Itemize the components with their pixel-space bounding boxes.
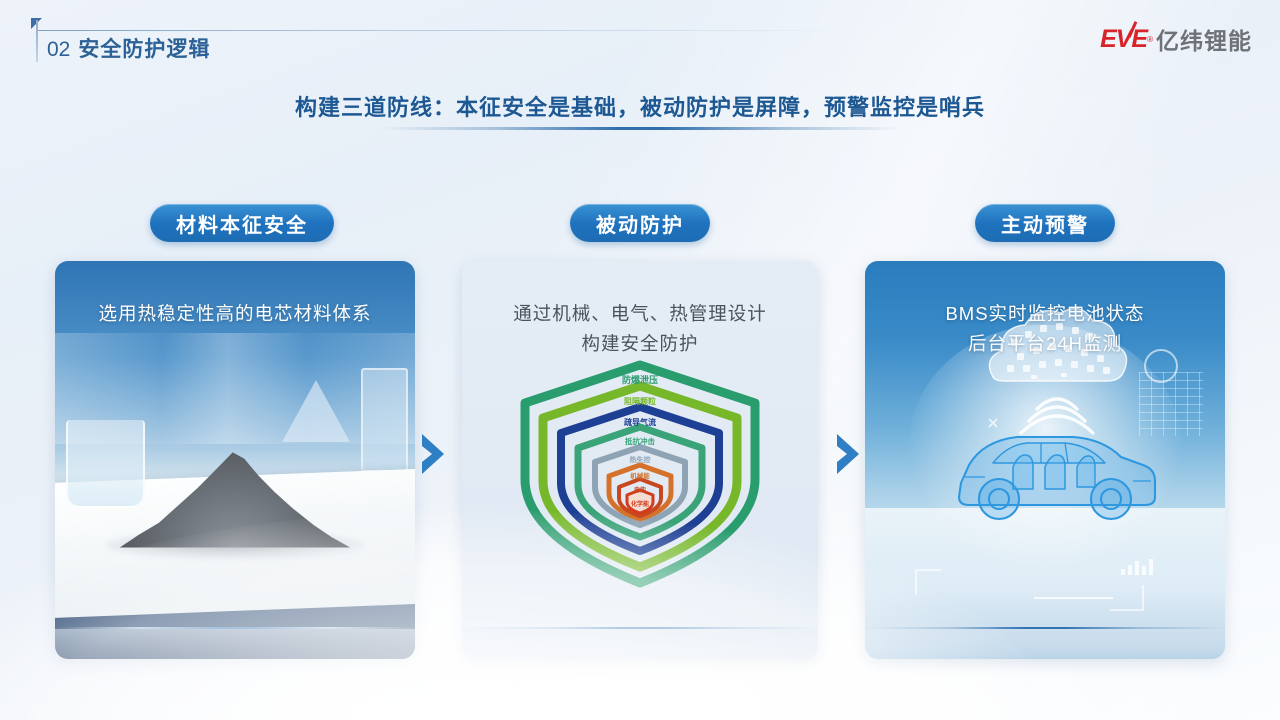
- flow-arrow-2: [833, 432, 863, 476]
- section-title: 安全防护逻辑: [78, 38, 210, 61]
- section-number: 02: [47, 38, 70, 61]
- slide-subtitle: 构建三道防线：本征安全是基础，被动防护是屏障，预警监控是哨兵: [0, 90, 1280, 122]
- shield-label-0: 防爆泄压: [622, 374, 658, 385]
- caption-line: 选用热稳定性高的电芯材料体系: [55, 299, 415, 329]
- column-passive-protection: 被动防护 通过机械、电气、热管理设计 构建安全防护: [462, 204, 818, 659]
- shield-label-1: 阻隔颗粒: [624, 396, 656, 406]
- badge-passive-protection[interactable]: 被动防护: [570, 204, 710, 242]
- card-material-intrinsic-safety[interactable]: 选用热稳定性高的电芯材料体系: [55, 261, 415, 659]
- nested-shield-diagram: 防爆泄压 阻隔颗粒 疏导气流 抵抗冲击 热失控 机械能 电能 化学能: [462, 359, 818, 589]
- shield-label-5: 机械能: [630, 471, 650, 480]
- chevron-right-icon: [418, 432, 448, 476]
- subtitle-underline: [380, 127, 900, 130]
- logo-wordmark: EVE: [1100, 25, 1147, 54]
- eve-logo: EVE ® 亿纬锂能: [1100, 22, 1252, 56]
- shield-label-2: 疏导气流: [624, 417, 656, 427]
- header-vertical-rule: [36, 20, 38, 62]
- wifi-signal-icon: [1021, 399, 1093, 433]
- shield-label-6: 电能: [634, 486, 646, 494]
- card-caption-3: BMS实时监控电池状态 后台平台24H监测: [865, 299, 1225, 359]
- caption-line: 通过机械、电气、热管理设计: [462, 299, 818, 329]
- logo-registered-icon: ®: [1147, 35, 1153, 44]
- header-horizontal-rule: [38, 30, 858, 31]
- shield-label-3: 抵抗冲击: [625, 436, 655, 446]
- shield-svg: 防爆泄压 阻隔颗粒 疏导气流 抵抗冲击 热失控 机械能 电能 化学能: [515, 359, 765, 589]
- card-caption-2: 通过机械、电气、热管理设计 构建安全防护: [462, 299, 818, 359]
- slide-header: 02安全防护逻辑 EVE ® 亿纬锂能: [0, 0, 1280, 72]
- flow-arrow-1: [418, 432, 448, 476]
- card-caption-1: 选用热稳定性高的电芯材料体系: [55, 299, 415, 329]
- logo-chinese-name: 亿纬锂能: [1156, 22, 1252, 56]
- chevron-right-icon: [833, 432, 863, 476]
- hud-line-icon: [1034, 597, 1113, 599]
- slide-canvas: 02安全防护逻辑 EVE ® 亿纬锂能 构建三道防线：本征安全是基础，被动防护是…: [0, 0, 1280, 720]
- column-material-intrinsic-safety: 材料本征安全 选用热稳定性高的电芯材料体系: [55, 204, 415, 659]
- shield-label-7: 化学能: [631, 500, 649, 508]
- caption-line: 构建安全防护: [462, 329, 818, 359]
- card-passive-protection[interactable]: 通过机械、电气、热管理设计 构建安全防护: [462, 261, 818, 659]
- hud-corner-left-icon: [915, 569, 941, 595]
- badge-material-intrinsic-safety[interactable]: 材料本征安全: [150, 204, 334, 242]
- page-title: 02安全防护逻辑: [47, 33, 210, 63]
- hud-corner-right-icon: [1110, 585, 1144, 611]
- caption-line: BMS实时监控电池状态: [865, 299, 1225, 329]
- column-active-warning: 主动预警: [865, 204, 1225, 659]
- shield-label-4: 热失控: [630, 455, 651, 464]
- mini-bar-chart-icon: [1121, 559, 1153, 575]
- card-active-warning[interactable]: BMS实时监控电池状态 后台平台24H监测: [865, 261, 1225, 659]
- caption-line: 后台平台24H监测: [865, 329, 1225, 359]
- wireframe-car-icon: [959, 437, 1155, 519]
- alert-marker-icon: [989, 419, 997, 427]
- badge-active-warning[interactable]: 主动预警: [975, 204, 1115, 242]
